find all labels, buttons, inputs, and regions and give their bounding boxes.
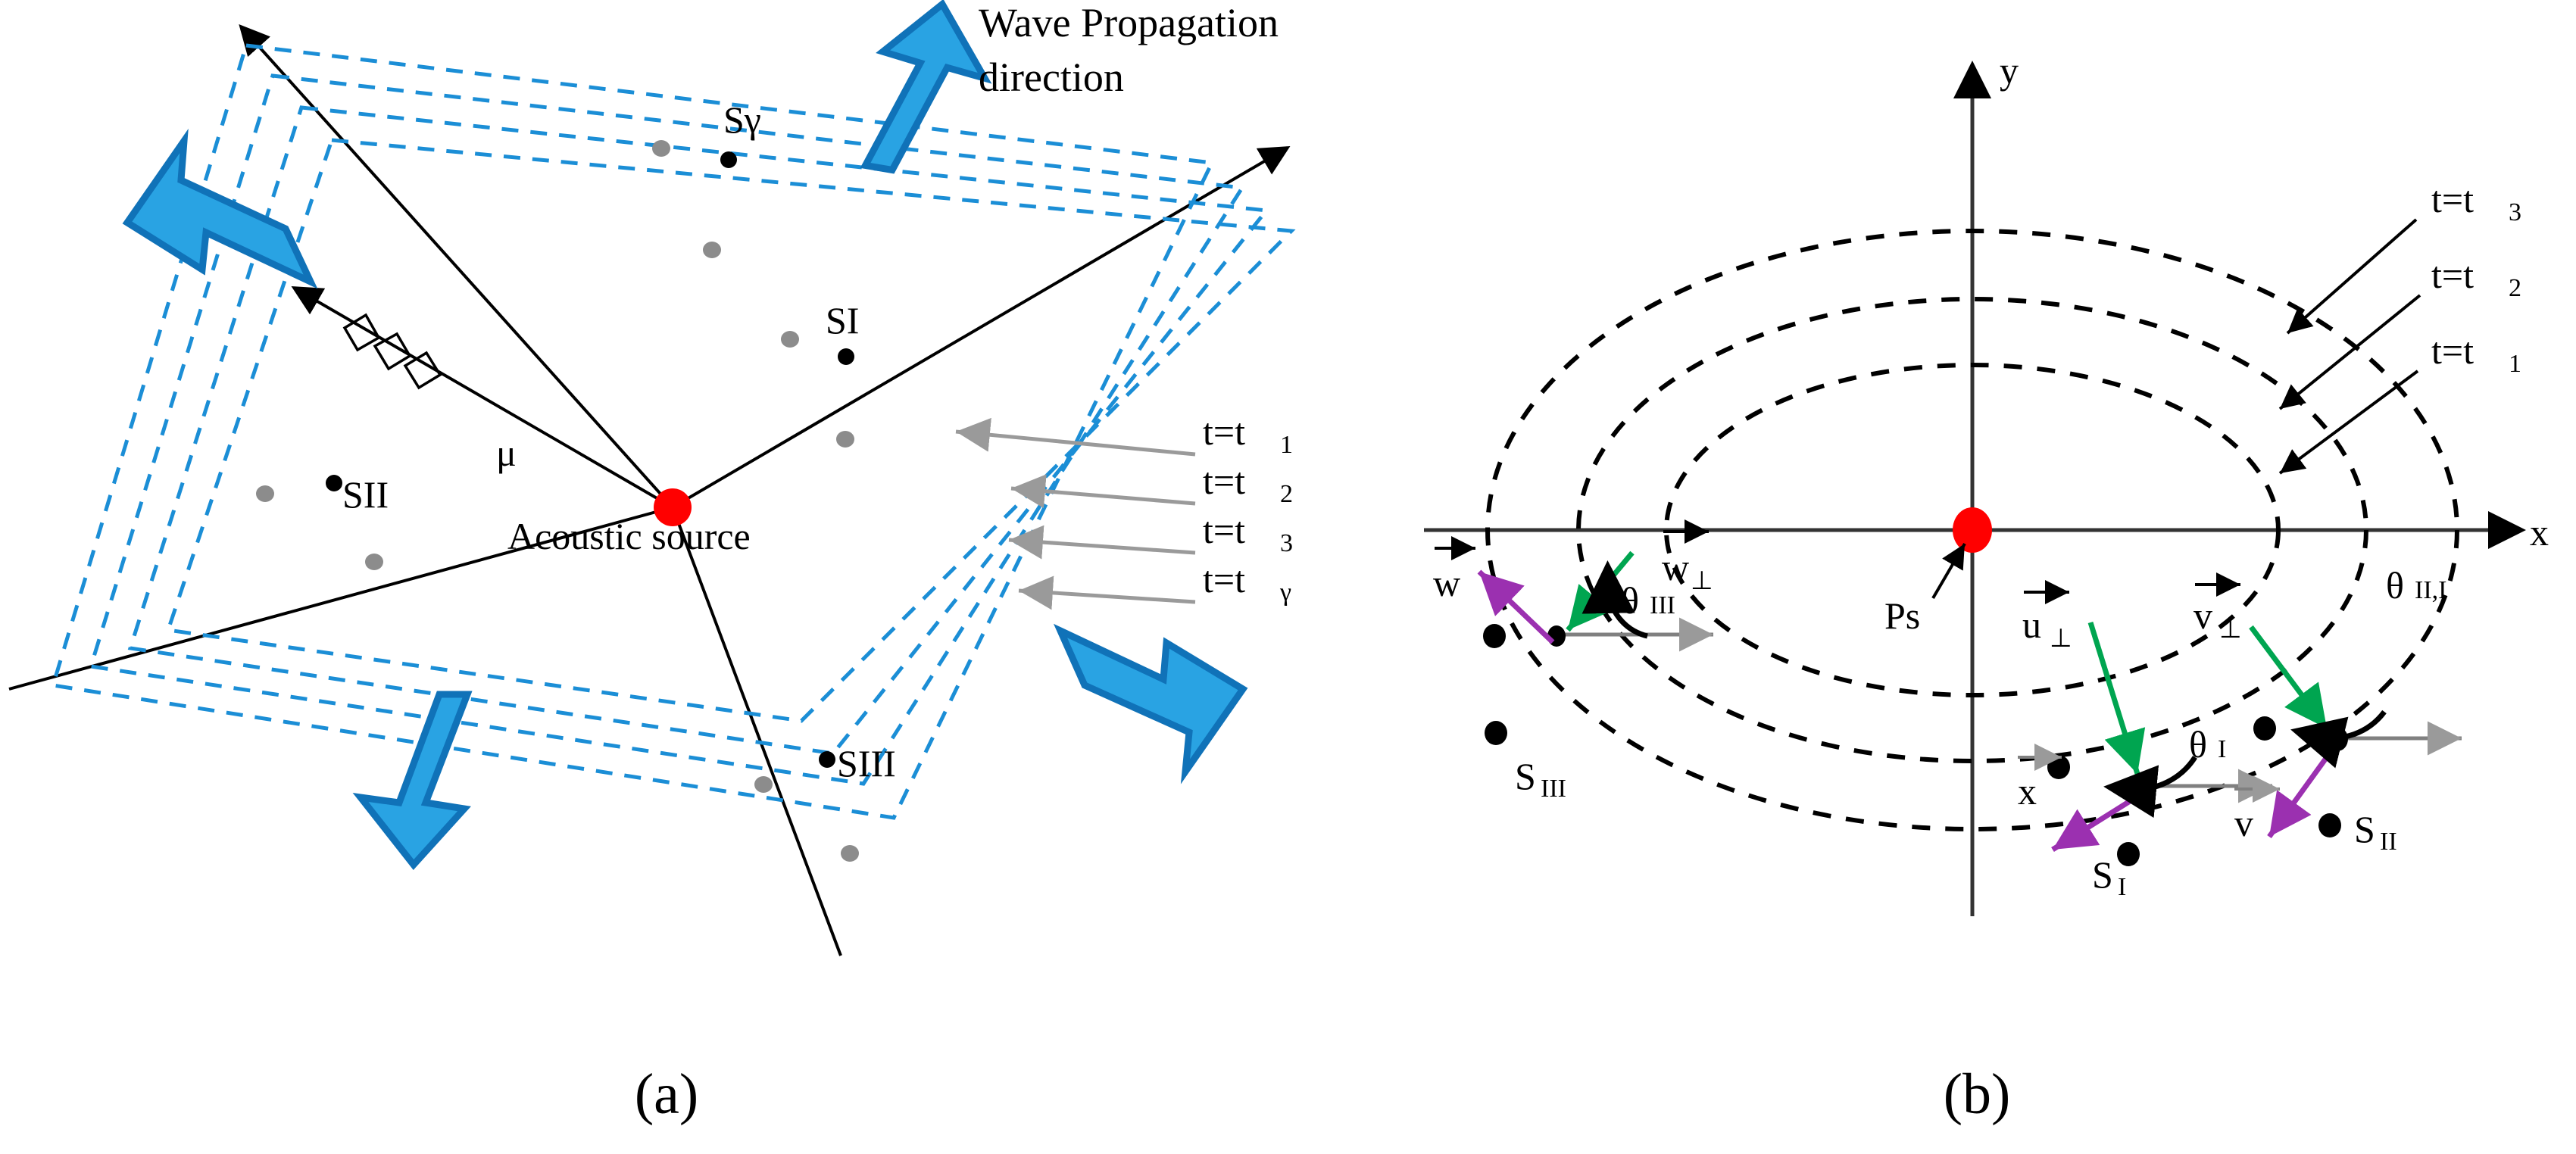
sii-label: S xyxy=(2354,808,2375,850)
wave-direction-line1: Wave Propagation xyxy=(979,0,1279,45)
grey-dot-b xyxy=(703,242,721,258)
uperp-sub: ⊥ xyxy=(2050,625,2072,653)
canvas-background xyxy=(0,0,2576,1154)
grey-dot-h xyxy=(841,845,859,862)
wperp-label: w xyxy=(1662,546,1689,588)
t-label-2-text: t=t xyxy=(1203,460,1245,502)
uperp-label: u xyxy=(2022,604,2041,646)
grey-dot-sgamma xyxy=(652,140,670,157)
si-sub: I xyxy=(2118,873,2126,901)
t-label-3-text: t=t xyxy=(1203,509,1245,551)
dot-sgamma xyxy=(720,151,737,168)
caption-b: (b) xyxy=(1944,1062,2011,1126)
label-mu: μ xyxy=(496,432,517,474)
grey-dot-sii xyxy=(256,485,274,502)
theta3-sub: III xyxy=(1650,591,1675,619)
grey-dot-siii xyxy=(754,776,773,793)
siii-label: S xyxy=(1515,755,1536,797)
label-sgamma: Sγ xyxy=(723,98,761,141)
t-label-1-sub: 1 xyxy=(1280,431,1293,459)
dot-left-prev xyxy=(1483,624,1506,648)
label-acoustic-source: Acoustic source xyxy=(507,515,751,557)
t-label-4-sub: γ xyxy=(1279,579,1291,607)
wave-direction-line2: direction xyxy=(979,55,1124,100)
siii-sub: III xyxy=(1541,775,1566,803)
grey-dot-d xyxy=(836,431,854,448)
x-axis-label: x xyxy=(2530,511,2549,554)
v-vector-label: v xyxy=(2234,802,2253,844)
figure-root: Wave Propagation direction Sγ SI SII SII… xyxy=(0,0,2576,1154)
sii-sub: II xyxy=(2380,828,2397,856)
t3-label-text: t=t xyxy=(2431,178,2474,220)
label-sii: SII xyxy=(342,473,389,516)
grey-dot-f xyxy=(365,554,383,570)
t1-label-sub: 1 xyxy=(2509,350,2521,378)
y-axis-label: y xyxy=(2000,49,2019,92)
ps-source-dot xyxy=(1953,507,1992,553)
t-label-4-text: t=t xyxy=(1203,558,1245,600)
dot-si xyxy=(838,348,854,365)
theta3-label: θ xyxy=(1621,579,1639,622)
label-si: SI xyxy=(826,299,859,342)
theta1-sub: I xyxy=(2218,735,2226,763)
vperp-sub: ⊥ xyxy=(2219,616,2242,644)
t2-label-sub: 2 xyxy=(2509,274,2521,302)
vperp-label: v xyxy=(2194,594,2212,637)
t-label-3-sub: 3 xyxy=(1280,529,1293,557)
theta21-sub: II,I xyxy=(2415,576,2446,604)
x-vector-label: x xyxy=(2018,770,2037,812)
dot-right-prev xyxy=(2253,716,2276,741)
dot-siii-b xyxy=(1485,721,1507,745)
theta21-label: θ xyxy=(2386,564,2404,607)
figure-svg: Wave Propagation direction Sγ SI SII SII… xyxy=(0,0,2576,1154)
grey-dot-si xyxy=(781,331,799,348)
ps-label: Ps xyxy=(1884,594,1920,637)
theta1-label: θ xyxy=(2189,723,2207,766)
wperp-sub: ⊥ xyxy=(1691,567,1713,595)
t3-label-sub: 3 xyxy=(2509,198,2521,226)
t-label-1-text: t=t xyxy=(1203,410,1245,453)
t1-label-text: t=t xyxy=(2431,329,2474,372)
dot-sii-b xyxy=(2318,813,2341,837)
dot-sii xyxy=(326,475,342,491)
dot-siii xyxy=(819,751,835,768)
si-label: S xyxy=(2092,853,2113,896)
caption-a: (a) xyxy=(635,1062,698,1126)
label-siii: SIII xyxy=(837,742,896,784)
t2-label-text: t=t xyxy=(2431,254,2474,296)
t-label-2-sub: 2 xyxy=(1280,480,1293,508)
w-label: w xyxy=(1433,562,1460,604)
dot-si-b xyxy=(2117,842,2140,866)
